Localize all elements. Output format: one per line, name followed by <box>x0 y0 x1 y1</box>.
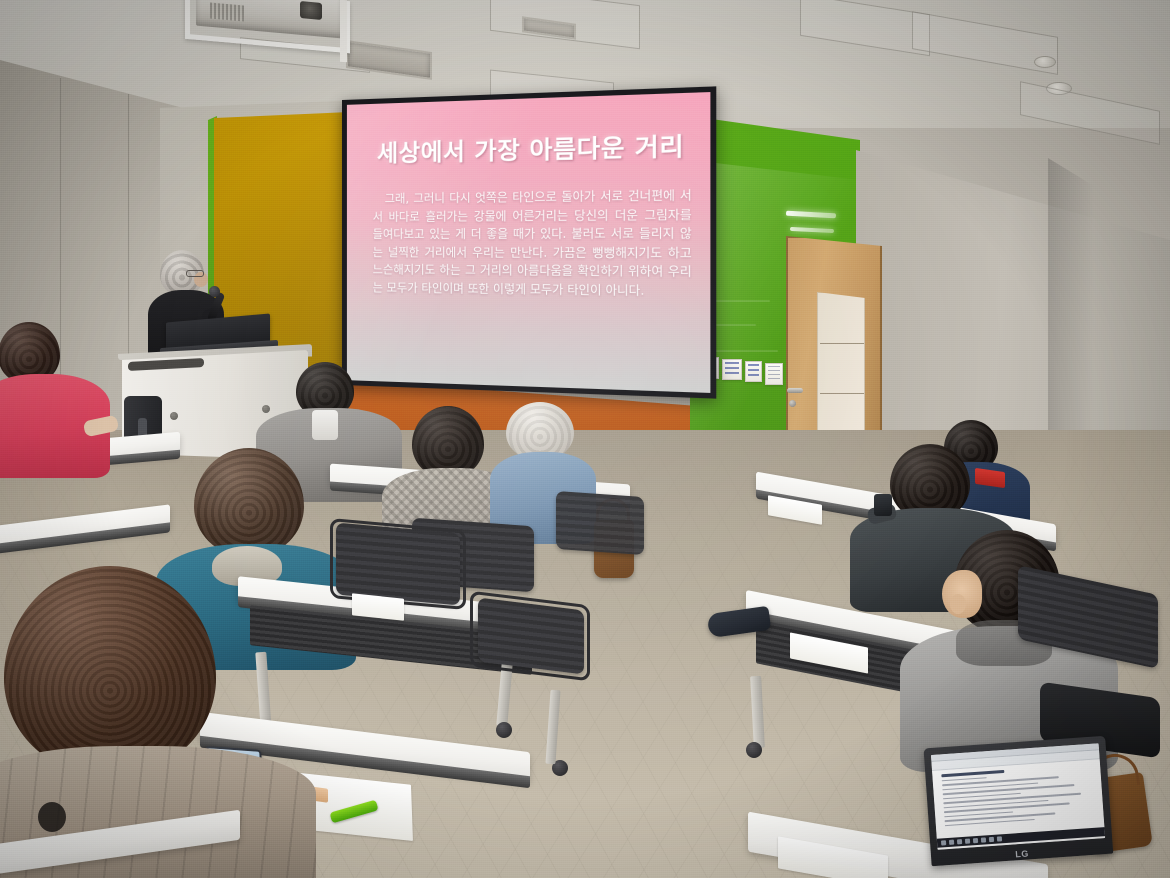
desk-caster <box>496 722 512 738</box>
desk-caster <box>746 742 762 758</box>
eyeglasses-icon <box>186 270 204 277</box>
door-vision-panel <box>817 292 865 442</box>
wall-notice[interactable] <box>722 359 742 380</box>
attendee-ear-icon <box>950 594 966 614</box>
wall-notice[interactable] <box>745 361 762 382</box>
audience-laptop[interactable]: LG <box>923 736 1114 878</box>
ceiling-tile <box>800 0 930 56</box>
smartphone-in-hand-icon[interactable] <box>874 494 892 516</box>
laptop-lid: LG <box>923 736 1113 866</box>
projector-mount-arm <box>340 0 347 62</box>
slide-body-text: 그래, 그러니 다시 엇쪽은 타인으로 돌아가 서로 건너편에 서서 바다로 흘… <box>373 186 692 300</box>
chair-frame <box>330 518 466 610</box>
ceiling-air-vent <box>346 40 432 80</box>
classroom-photo: 세상에서 가장 아름다운 거리 그래, 그러니 다시 엇쪽은 타인으로 돌아가 … <box>0 0 1170 878</box>
shirt-collar <box>312 410 338 440</box>
attendee-head <box>4 566 216 774</box>
slide-title: 세상에서 가장 아름다운 거리 <box>365 125 699 168</box>
lectern-screw-icon <box>170 412 178 420</box>
projection-screen-surface: 세상에서 가장 아름다운 거리 그래, 그러니 다시 엇쪽은 타인으로 돌아가 … <box>347 92 711 393</box>
microphone-head-icon <box>209 286 220 297</box>
attendee-pink <box>0 322 122 472</box>
projection-screen: 세상에서 가장 아름다운 거리 그래, 그러니 다시 엇쪽은 타인으로 돌아가 … <box>342 86 716 398</box>
hair-tie-icon <box>38 802 66 832</box>
ceiling-speaker-icon <box>1034 56 1056 68</box>
wall-notice[interactable] <box>765 363 783 385</box>
door-lock-icon[interactable] <box>789 400 796 407</box>
door-handle-icon[interactable] <box>787 388 803 393</box>
chair-back[interactable] <box>478 597 584 674</box>
chair-back[interactable] <box>556 491 644 555</box>
attendee-head <box>194 448 304 556</box>
ceiling-tile <box>1020 81 1160 145</box>
